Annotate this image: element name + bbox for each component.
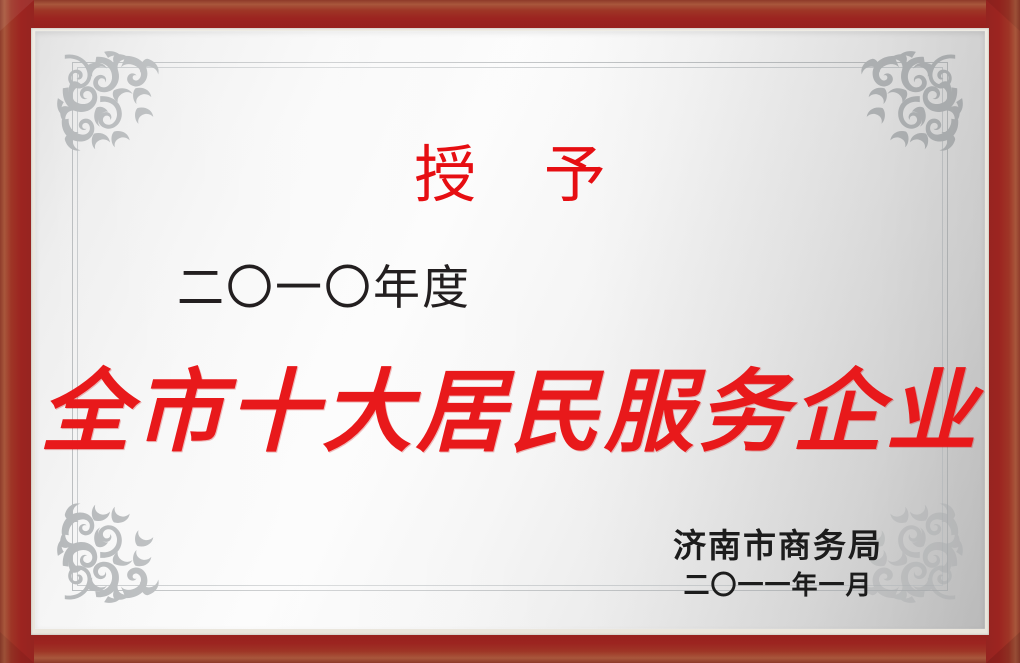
issuer-organization-text: 济南市商务局 — [673, 527, 883, 565]
frame-left-stile — [0, 0, 34, 663]
frame-bottom-rail — [0, 632, 1020, 663]
award-title-text: 全市十大居民服务企业 — [35, 367, 985, 462]
award-verb-text: 授 予 — [35, 145, 985, 207]
award-plaque: 授 予 二〇一〇年度 全市十大居民服务企业 济南市商务局 二〇一一年一月 — [0, 0, 1020, 663]
frame-right-stile — [986, 0, 1020, 663]
frame-top-rail — [0, 0, 1020, 31]
plaque-text-content: 授 予 二〇一〇年度 全市十大居民服务企业 济南市商务局 二〇一一年一月 — [35, 31, 985, 629]
issue-date-text: 二〇一一年一月 — [673, 572, 883, 601]
silver-plate: 授 予 二〇一〇年度 全市十大居民服务企业 济南市商务局 二〇一一年一月 — [35, 31, 985, 629]
issuer-signature-block: 济南市商务局 二〇一一年一月 — [673, 527, 883, 601]
award-year-text: 二〇一〇年度 — [177, 266, 471, 313]
